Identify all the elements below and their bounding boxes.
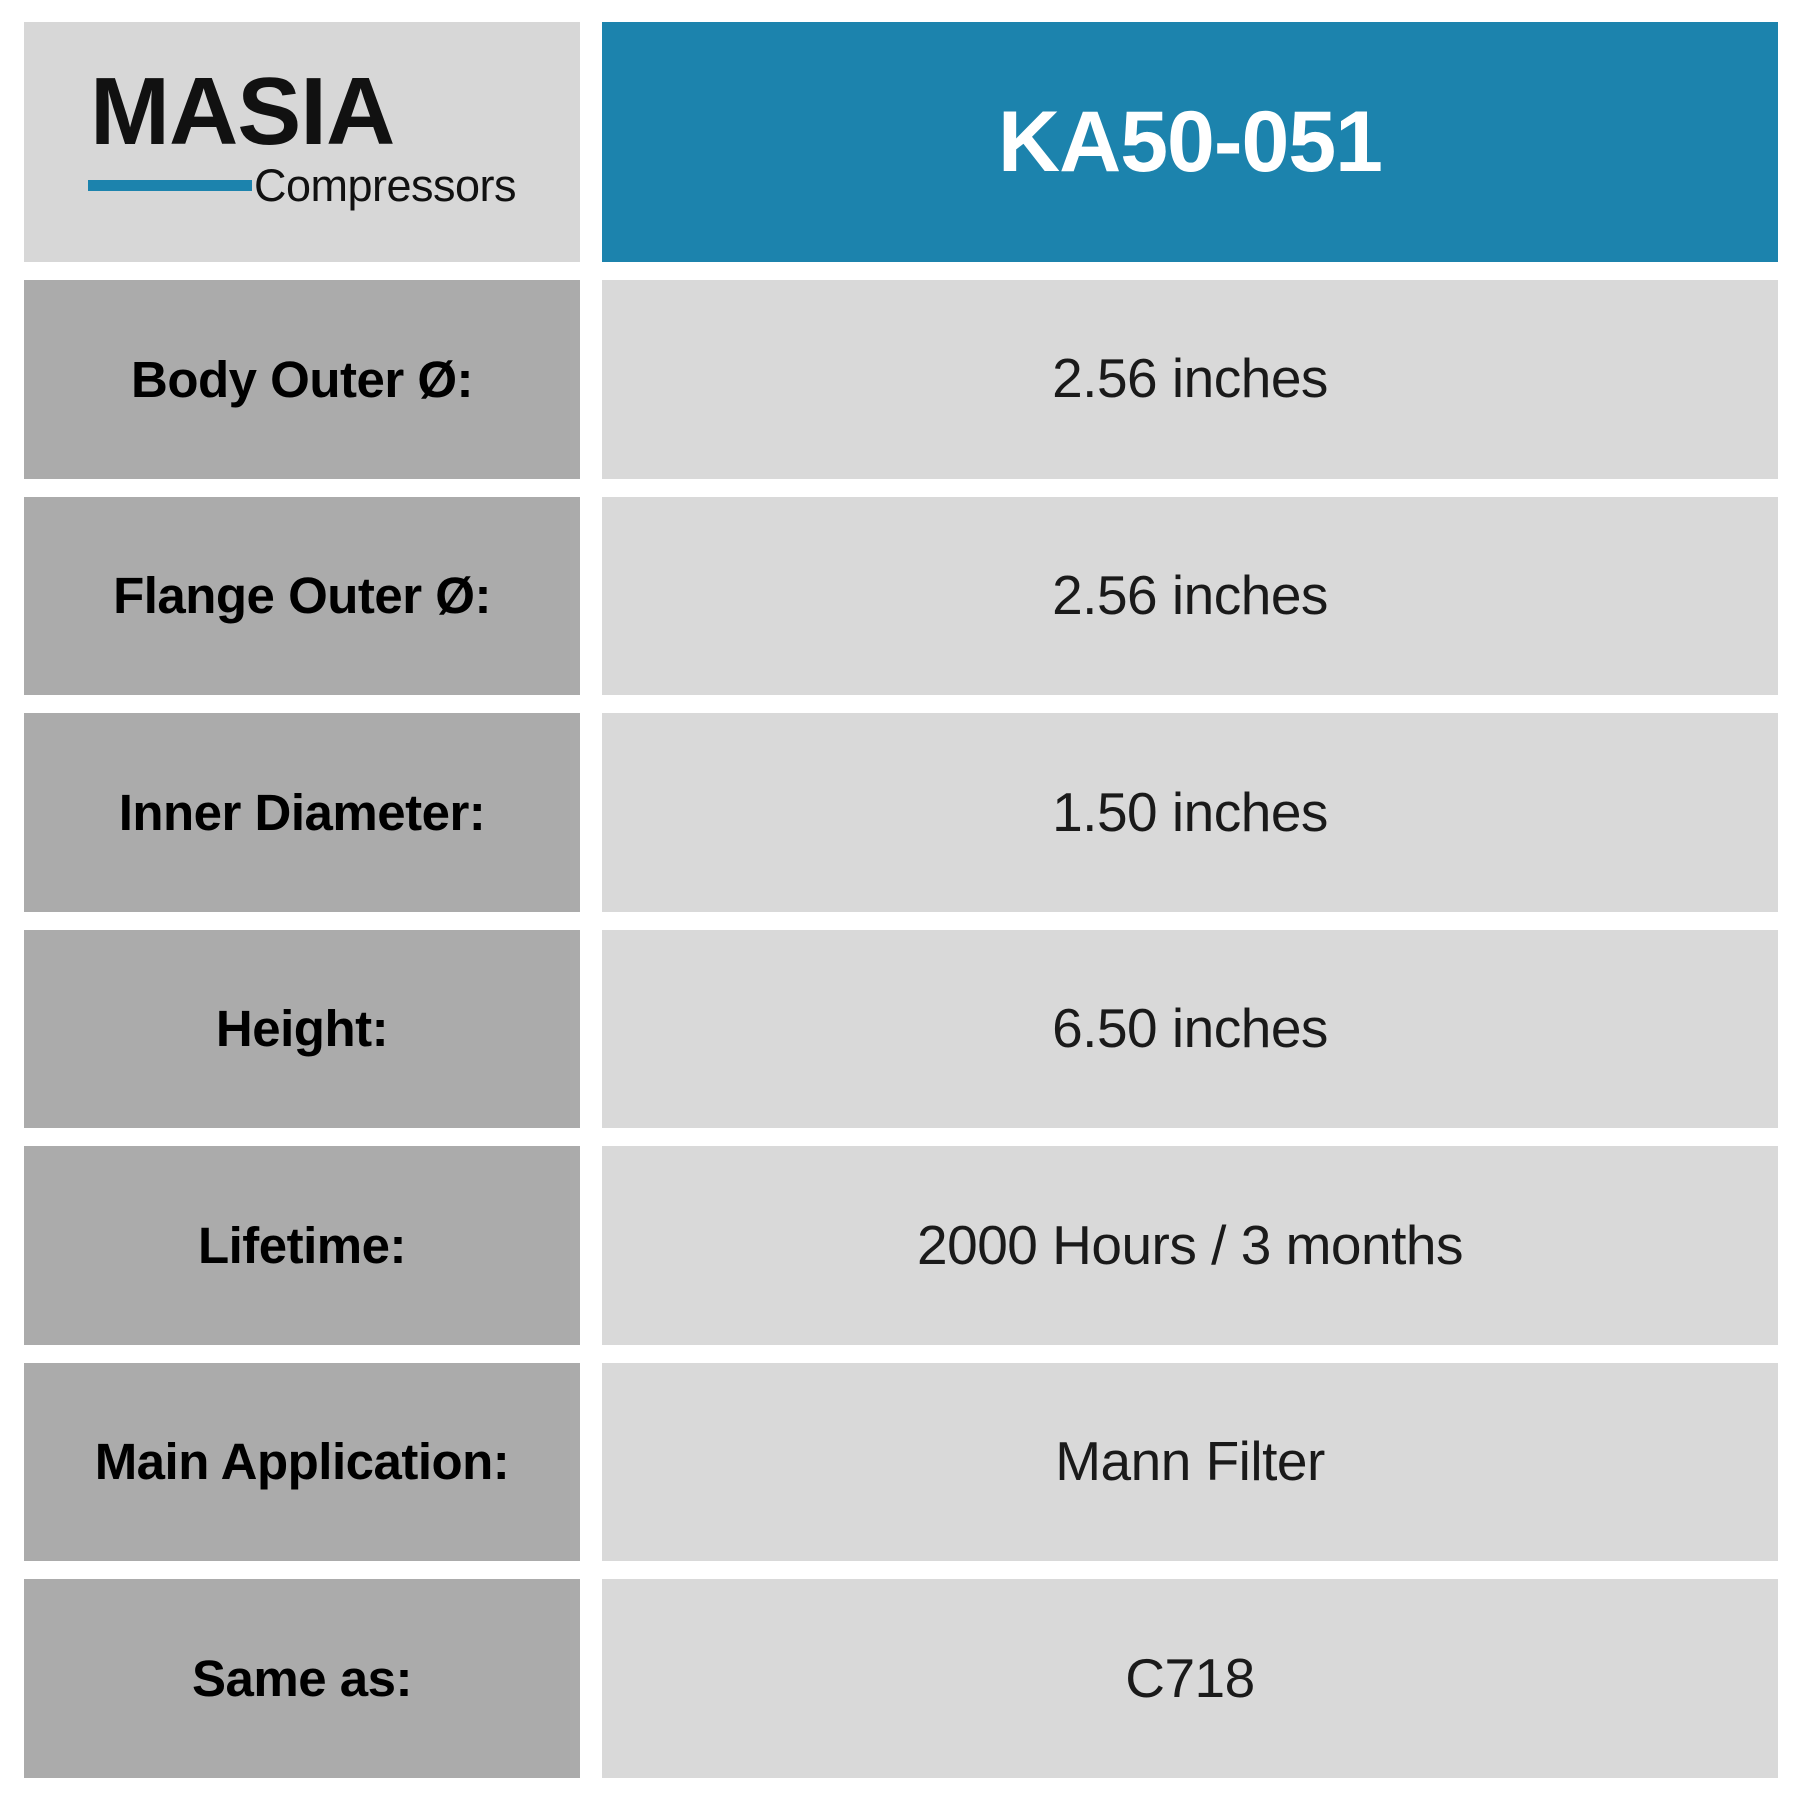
row-gutter	[580, 1579, 602, 1778]
spec-label-cell: Height:	[24, 930, 580, 1129]
spec-value-cell: 6.50 inches	[602, 930, 1778, 1129]
spec-label-cell: Same as:	[24, 1579, 580, 1778]
header-gutter	[580, 22, 602, 262]
product-code: KA50-051	[998, 99, 1382, 185]
spec-value: 2000 Hours / 3 months	[917, 1217, 1463, 1275]
spec-label: Main Application:	[95, 1435, 510, 1489]
spec-value: C718	[1125, 1650, 1254, 1708]
spec-value: Mann Filter	[1055, 1433, 1325, 1491]
table-row: Flange Outer Ø: 2.56 inches	[24, 497, 1778, 696]
spec-label: Flange Outer Ø:	[113, 569, 491, 623]
row-gutter	[580, 280, 602, 479]
spec-value: 2.56 inches	[1052, 567, 1328, 625]
brand-rule-icon	[88, 180, 252, 191]
product-spec-sheet: MASIA Compressors KA50-051 Body Outer Ø:…	[0, 0, 1800, 1800]
spec-label: Height:	[216, 1002, 388, 1056]
table-row: Height: 6.50 inches	[24, 930, 1778, 1129]
table-row: Lifetime: 2000 Hours / 3 months	[24, 1146, 1778, 1345]
table-row: Body Outer Ø: 2.56 inches	[24, 280, 1778, 479]
spec-label: Inner Diameter:	[119, 786, 486, 840]
brand-logo-cell: MASIA Compressors	[24, 22, 580, 262]
row-gutter	[580, 497, 602, 696]
spec-value-cell: 2.56 inches	[602, 497, 1778, 696]
spec-label: Lifetime:	[198, 1219, 406, 1273]
table-row: Same as: C718	[24, 1579, 1778, 1778]
spec-value-cell: 1.50 inches	[602, 713, 1778, 912]
brand-name: MASIA	[90, 68, 394, 156]
spec-label: Same as:	[192, 1652, 412, 1706]
row-gutter	[580, 713, 602, 912]
spec-table: Body Outer Ø: 2.56 inches Flange Outer Ø…	[24, 262, 1778, 1778]
brand-logo: MASIA Compressors	[88, 68, 516, 207]
spec-value: 2.56 inches	[1052, 350, 1328, 408]
product-code-cell: KA50-051	[602, 22, 1778, 262]
spec-label-cell: Lifetime:	[24, 1146, 580, 1345]
spec-value: 6.50 inches	[1052, 1000, 1328, 1058]
sheet-header: MASIA Compressors KA50-051	[24, 22, 1778, 262]
spec-value-cell: Mann Filter	[602, 1363, 1778, 1562]
brand-tagline: Compressors	[254, 163, 516, 208]
table-row: Inner Diameter: 1.50 inches	[24, 713, 1778, 912]
spec-label-cell: Inner Diameter:	[24, 713, 580, 912]
spec-label-cell: Flange Outer Ø:	[24, 497, 580, 696]
spec-value-cell: C718	[602, 1579, 1778, 1778]
spec-value-cell: 2000 Hours / 3 months	[602, 1146, 1778, 1345]
spec-label-cell: Body Outer Ø:	[24, 280, 580, 479]
row-gutter	[580, 1146, 602, 1345]
spec-value: 1.50 inches	[1052, 784, 1328, 842]
spec-value-cell: 2.56 inches	[602, 280, 1778, 479]
row-gutter	[580, 1363, 602, 1562]
brand-tagline-row: Compressors	[88, 163, 516, 208]
row-gutter	[580, 930, 602, 1129]
spec-label-cell: Main Application:	[24, 1363, 580, 1562]
table-row: Main Application: Mann Filter	[24, 1363, 1778, 1562]
spec-label: Body Outer Ø:	[131, 353, 473, 407]
